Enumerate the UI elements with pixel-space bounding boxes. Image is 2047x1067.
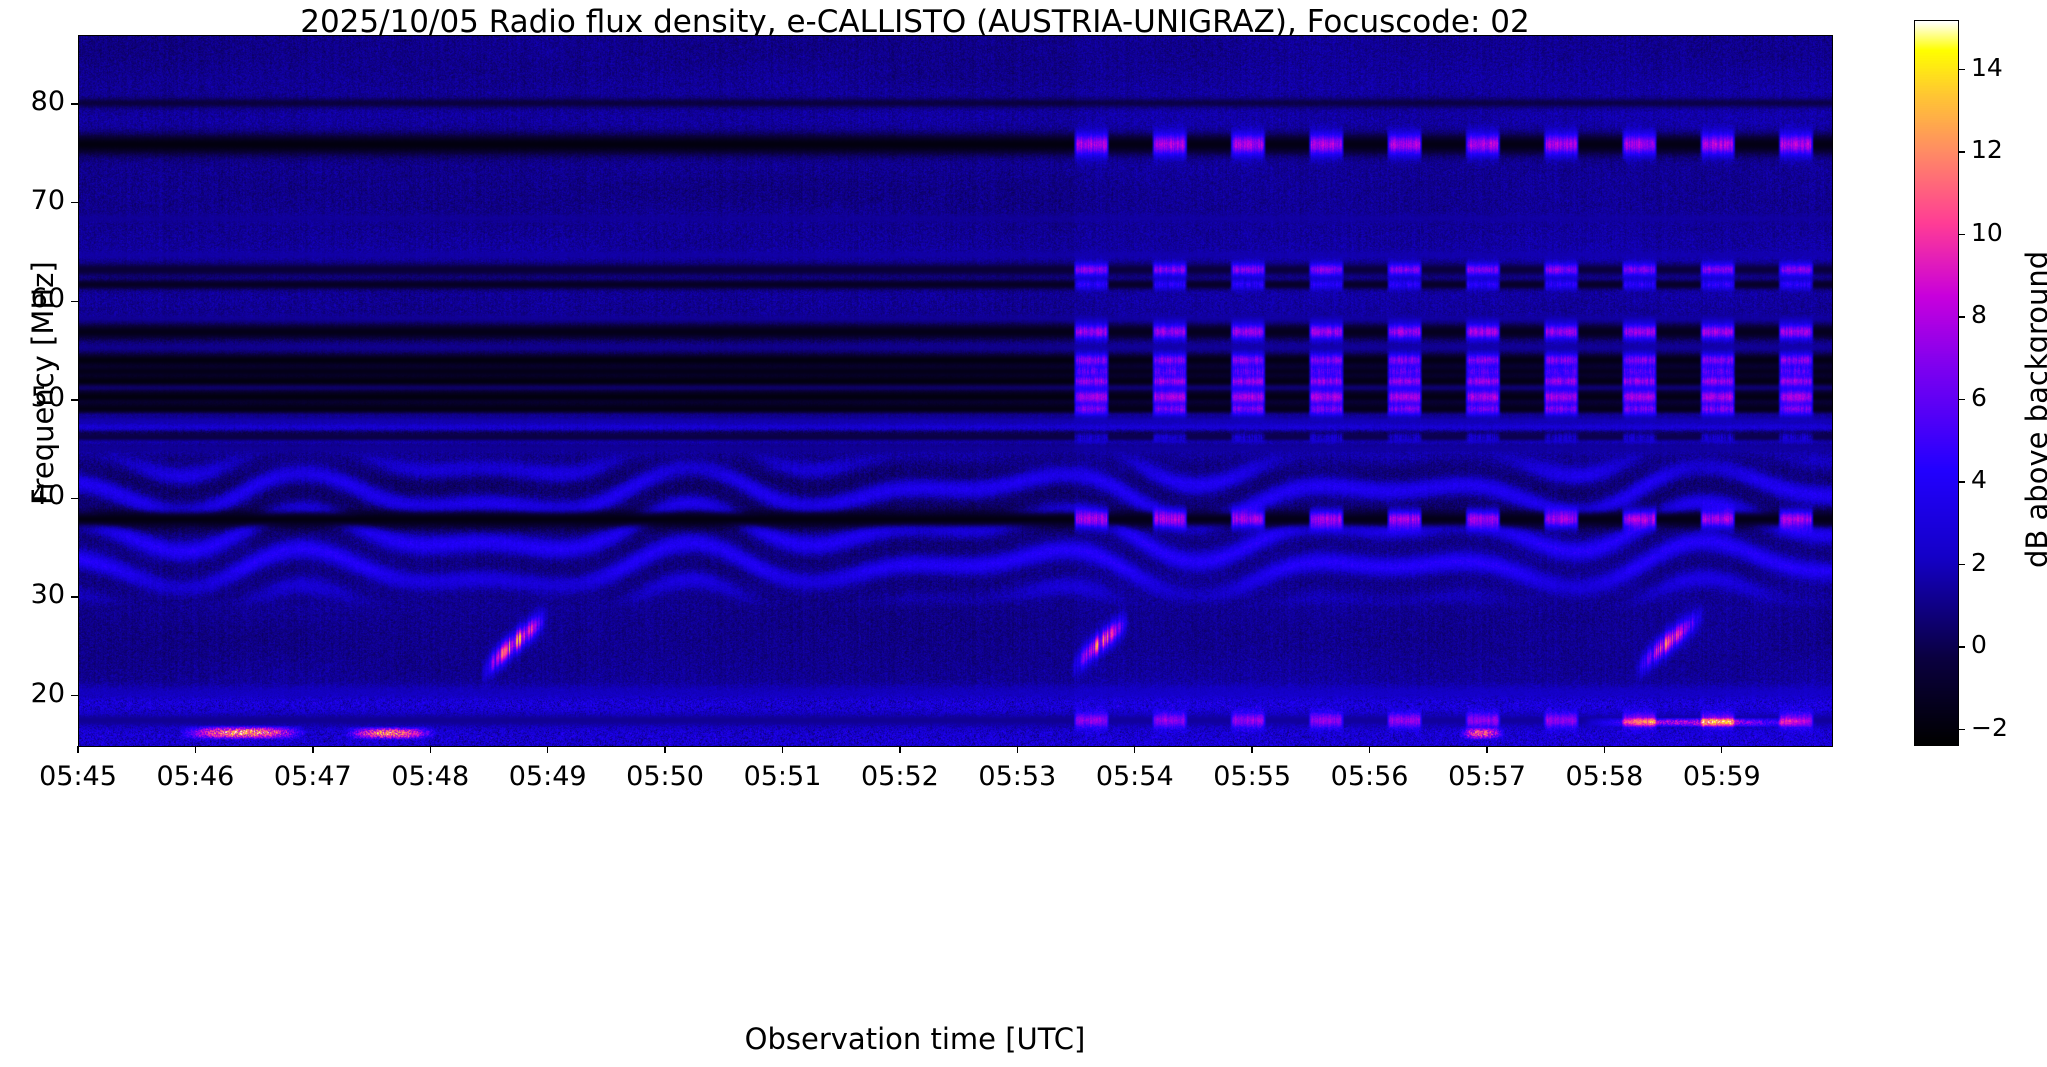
- y-tick-label: 30: [0, 579, 65, 610]
- y-tick-label: 80: [0, 86, 65, 117]
- spectrogram-axes[interactable]: [78, 35, 1833, 747]
- colorbar-tick-label: 12: [1971, 135, 2003, 164]
- colorbar-tick-label: 6: [1971, 383, 1987, 412]
- colorbar-gradient: [1914, 20, 1959, 746]
- x-tick-mark: [430, 746, 431, 753]
- y-tick-mark: [71, 399, 78, 400]
- x-tick-label: 05:59: [1652, 761, 1792, 792]
- colorbar-tick-label: 14: [1971, 53, 2003, 82]
- x-tick-mark: [312, 746, 313, 753]
- y-tick-label: 20: [0, 678, 65, 709]
- colorbar-tick-mark: [1959, 151, 1965, 152]
- colorbar-tick-mark: [1959, 564, 1965, 565]
- colorbar-tick-mark: [1959, 234, 1965, 235]
- colorbar-tick-mark: [1959, 646, 1965, 647]
- x-tick-mark: [782, 746, 783, 753]
- spectrogram-image: [79, 36, 1832, 746]
- figure-canvas: 2025/10/05 Radio flux density, e-CALLIST…: [0, 0, 2047, 1067]
- colorbar-tick-mark: [1959, 481, 1965, 482]
- colorbar-tick-mark: [1959, 316, 1965, 317]
- colorbar-tick-mark: [1959, 69, 1965, 70]
- colorbar-tick-label: 8: [1971, 300, 1987, 329]
- x-tick-mark: [664, 746, 665, 753]
- x-tick-mark: [1486, 746, 1487, 753]
- y-tick-mark: [71, 695, 78, 696]
- colorbar-tick-label: 0: [1971, 630, 1987, 659]
- x-tick-mark: [1251, 746, 1252, 753]
- y-tick-mark: [71, 202, 78, 203]
- colorbar-tick-mark: [1959, 399, 1965, 400]
- y-tick-mark: [71, 498, 78, 499]
- x-tick-mark: [1017, 746, 1018, 753]
- colorbar-tick-label: 4: [1971, 465, 1987, 494]
- x-tick-mark: [1369, 746, 1370, 753]
- x-tick-mark: [1721, 746, 1722, 753]
- x-tick-mark: [77, 746, 78, 753]
- y-tick-mark: [71, 103, 78, 104]
- x-tick-mark: [547, 746, 548, 753]
- x-tick-mark: [1134, 746, 1135, 753]
- x-tick-mark: [899, 746, 900, 753]
- colorbar-tick-label: 2: [1971, 548, 1987, 577]
- y-tick-mark: [71, 596, 78, 597]
- x-tick-mark: [195, 746, 196, 753]
- colorbar-tick-label: −2: [1971, 713, 2008, 742]
- colorbar-label: dB above background: [2020, 251, 2047, 568]
- x-axis-label: Observation time [UTC]: [0, 1022, 1830, 1056]
- y-axis-label: Frequency [MHz]: [26, 261, 60, 505]
- colorbar[interactable]: [1914, 20, 1959, 746]
- colorbar-tick-mark: [1959, 729, 1965, 730]
- y-tick-mark: [71, 301, 78, 302]
- y-tick-label: 70: [0, 185, 65, 216]
- colorbar-tick-label: 10: [1971, 218, 2003, 247]
- x-tick-mark: [1604, 746, 1605, 753]
